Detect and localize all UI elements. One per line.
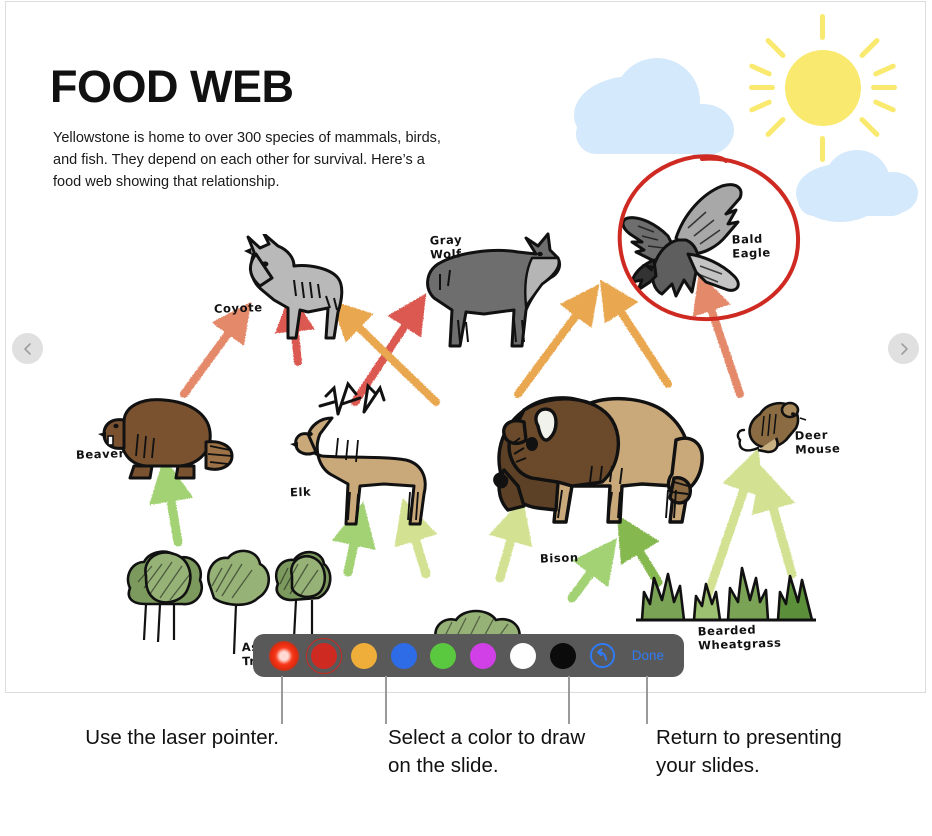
coyote-illustration [238, 234, 353, 344]
done-button[interactable]: Done [623, 648, 673, 663]
color-swatch-red-dot [311, 643, 337, 669]
coyote-label: Coyote [214, 301, 263, 316]
done-button-label: Done [632, 648, 664, 663]
bearded-wheatgrass-label: Bearded Wheatgrass [698, 622, 782, 654]
color-swatch-white-dot [510, 643, 536, 669]
next-slide-button[interactable] [888, 333, 919, 364]
beaver-illustration [94, 392, 234, 482]
caption-laser: Use the laser pointer. [64, 724, 279, 752]
chevron-left-icon [21, 342, 35, 356]
color-swatch-green[interactable] [423, 639, 463, 673]
leader-line-laser [281, 676, 283, 724]
color-swatch-black[interactable] [543, 639, 583, 673]
beaver-label: Beaver [76, 447, 125, 462]
undo-button[interactable] [583, 642, 623, 669]
elk-illustration [264, 374, 444, 534]
elk-label: Elk [290, 486, 312, 500]
bison-label: Bison [540, 551, 579, 566]
bison-illustration [462, 382, 712, 552]
laser-pointer-button[interactable] [269, 641, 299, 671]
color-swatch-red[interactable] [304, 638, 344, 674]
leader-line-done [646, 676, 648, 724]
undo-icon [589, 642, 616, 669]
deer-mouse-label: Deer Mouse [795, 428, 841, 457]
chevron-right-icon [897, 342, 911, 356]
gray-wolf-label: Gray Wolf [430, 233, 463, 261]
color-swatch-blue[interactable] [384, 639, 424, 673]
color-swatch-blue-dot [391, 643, 417, 669]
caption-colors: Select a color to draw on the slide. [388, 724, 588, 781]
previous-slide-button[interactable] [12, 333, 43, 364]
color-swatch-white[interactable] [503, 639, 543, 673]
slide-canvas[interactable]: FOOD WEB Yellowstone is home to over 300… [5, 1, 926, 693]
leader-line-colors-right [568, 676, 570, 724]
laser-annotation-circle [610, 145, 810, 325]
laser-pointer-slot[interactable] [264, 641, 304, 671]
color-swatch-magenta-dot [470, 643, 496, 669]
color-swatch-green-dot [430, 643, 456, 669]
leader-line-colors-left [385, 676, 387, 724]
drawing-toolbar[interactable]: Done [253, 634, 684, 677]
color-swatch-orange[interactable] [344, 639, 384, 673]
color-swatch-black-dot [550, 643, 576, 669]
color-swatch-orange-dot [351, 643, 377, 669]
color-swatch-red-ring [306, 638, 342, 674]
color-swatch-magenta[interactable] [463, 639, 503, 673]
caption-done: Return to presenting your slides. [656, 724, 886, 781]
